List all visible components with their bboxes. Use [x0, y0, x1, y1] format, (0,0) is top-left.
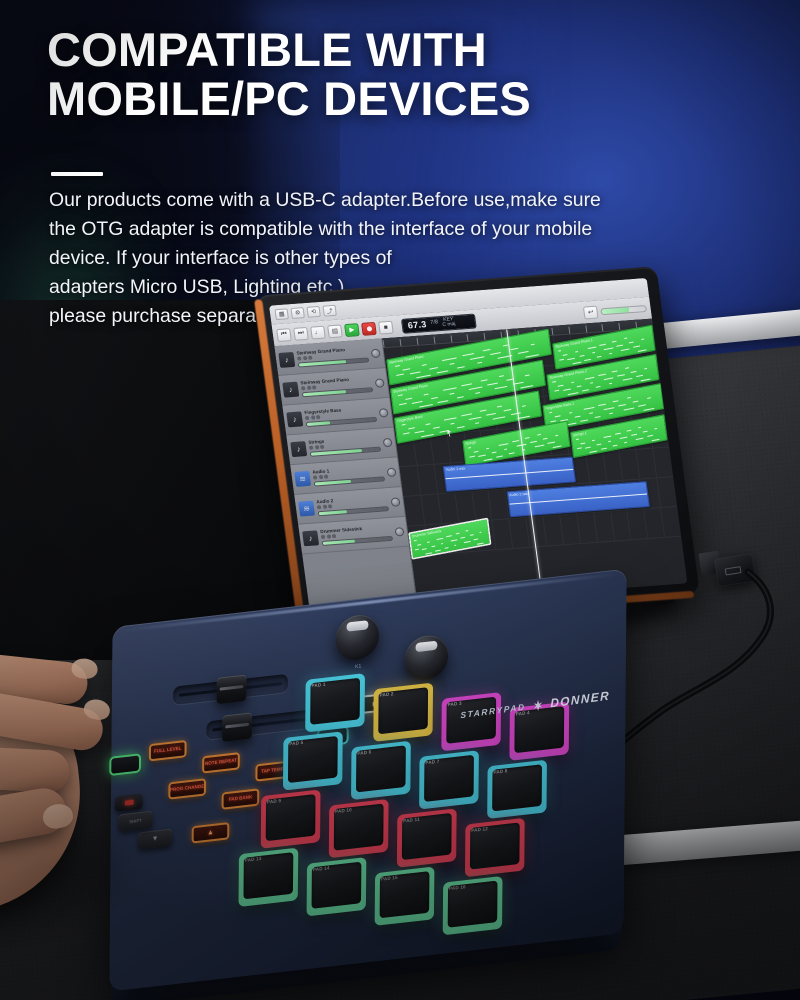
- product-banner: COMPATIBLE WITH MOBILE/PC DEVICES Our pr…: [0, 0, 800, 1000]
- vignette-overlay: [0, 0, 800, 1000]
